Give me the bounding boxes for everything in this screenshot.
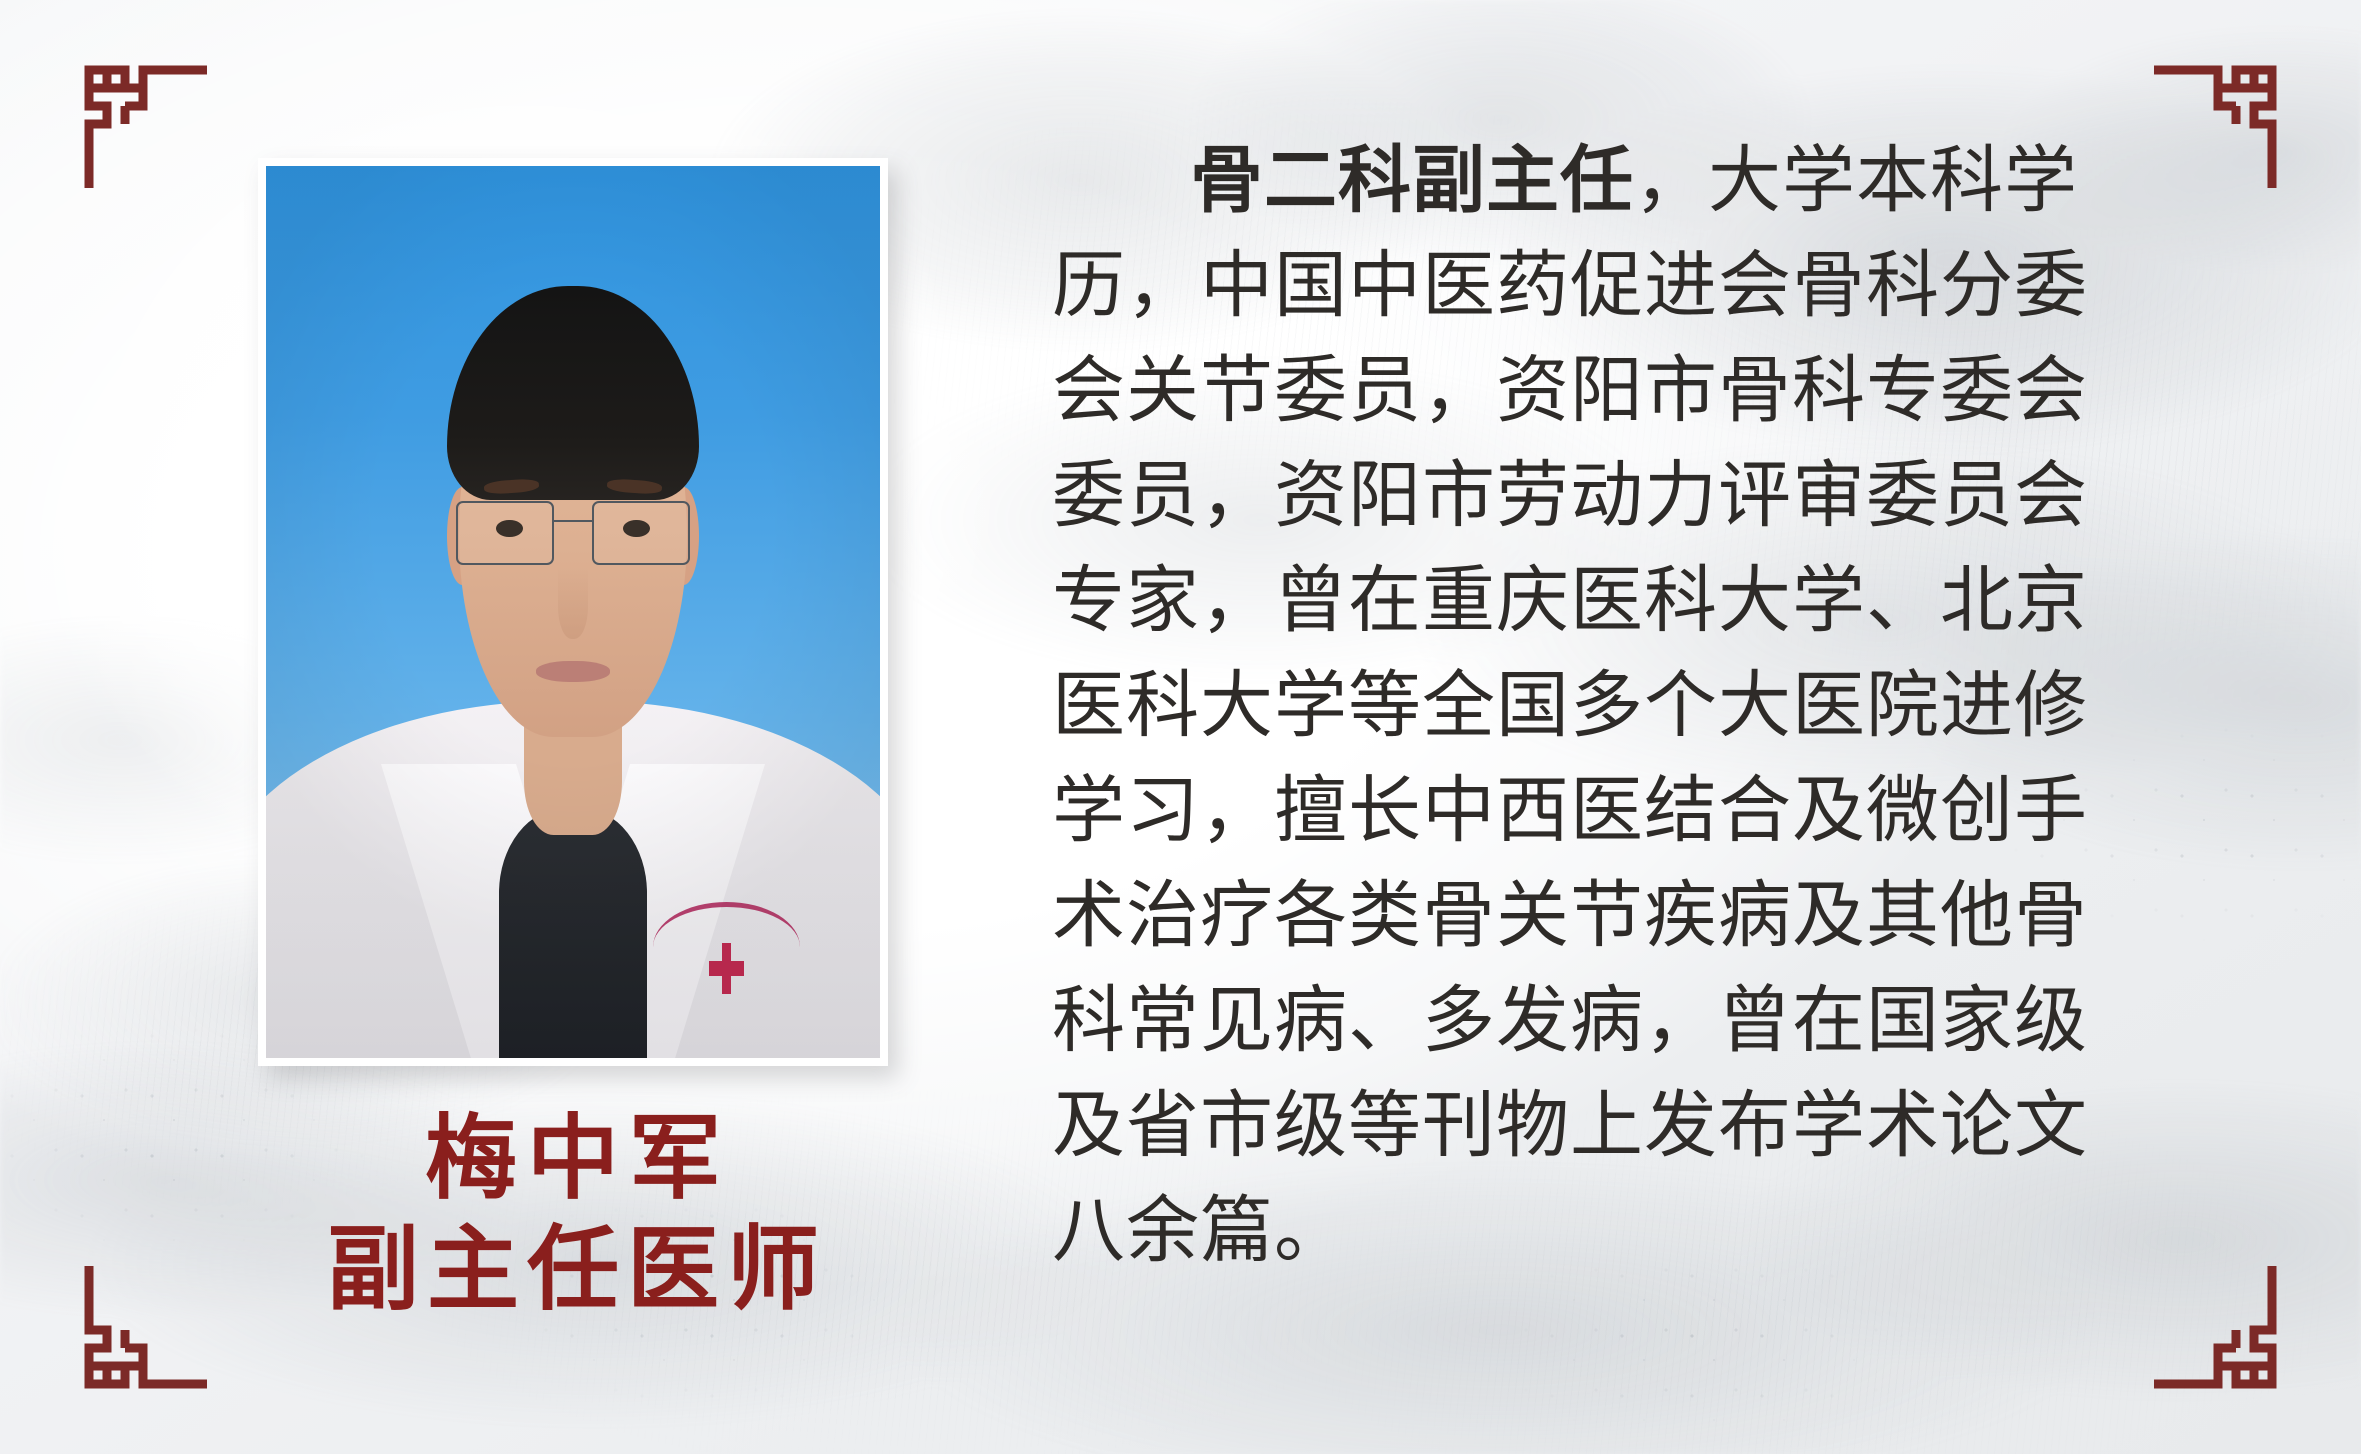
bio-line: 学习，擅长中西医结合及微创手 [1052,758,2172,863]
bio-line: 术治疗各类骨关节疾病及其他骨 [1052,863,2172,968]
meander-corner-icon-bottom-left [63,1260,213,1410]
doctor-biography: 骨二科副主任，大学本科学 历，中国中医药促进会骨科分委 会关节委员，资阳市骨科专… [1052,128,2172,1283]
bio-line-rest: ，大学本科学 [1634,140,2078,221]
bio-line: 及省市级等刊物上发布学术论文 [1052,1073,2172,1178]
doctor-profile-slide: 梅中军 副主任医师 骨二科副主任，大学本科学 历，中国中医药促进会骨科分委 会关… [0,0,2361,1454]
bio-line: 历，中国中医药促进会骨科分委 [1052,233,2172,338]
portrait-vignette [266,166,880,1058]
doctor-portrait-photo [258,158,888,1066]
doctor-name-block: 梅中军 副主任医师 [258,1110,888,1324]
portrait-image [266,166,880,1058]
bio-lead-role: 骨二科副主任 [1190,140,1634,221]
bio-line: 医科大学等全国多个大医院进修 [1052,653,2172,758]
bio-line: 科常见病、多发病，曾在国家级 [1052,968,2172,1073]
doctor-title: 副主任医师 [258,1217,888,1324]
bio-line: 会关节委员，资阳市骨科专委会 [1052,338,2172,443]
meander-corner-icon-top-left [63,44,213,194]
bio-line: 专家，曾在重庆医科大学、北京 [1052,548,2172,653]
doctor-name: 梅中军 [258,1110,888,1209]
bio-line: 八余篇。 [1052,1178,2172,1283]
bio-line: 骨二科副主任，大学本科学 [1052,128,2172,233]
bio-line: 委员，资阳市劳动力评审委员会 [1052,443,2172,548]
